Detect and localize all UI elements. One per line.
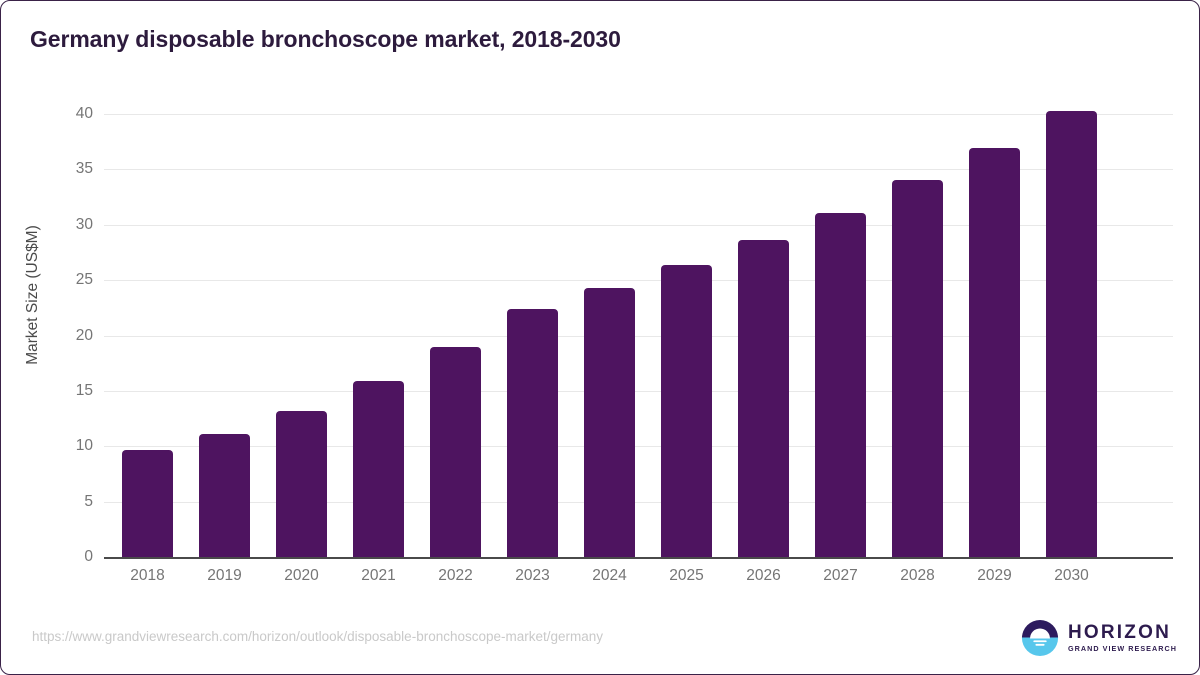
x-tick-label: 2029 bbox=[956, 567, 1033, 585]
y-tick-label: 10 bbox=[76, 437, 93, 455]
y-tick-label: 5 bbox=[84, 493, 93, 511]
bar[interactable] bbox=[892, 180, 943, 557]
y-tick-label: 15 bbox=[76, 382, 93, 400]
bar-group: 2021 bbox=[340, 1, 417, 601]
bar-group: 2030 bbox=[1033, 1, 1110, 601]
bar-group: 2018 bbox=[109, 1, 186, 601]
bar[interactable] bbox=[815, 213, 866, 557]
bar-group: 2020 bbox=[263, 1, 340, 601]
bar[interactable] bbox=[1046, 111, 1097, 557]
bar[interactable] bbox=[430, 347, 481, 557]
bar-group: 2023 bbox=[494, 1, 571, 601]
bar[interactable] bbox=[738, 240, 789, 557]
y-tick-label: 40 bbox=[76, 105, 93, 123]
y-tick-label: 25 bbox=[76, 271, 93, 289]
bar-series: 2018201920202021202220232024202520262027… bbox=[109, 1, 1173, 601]
source-url[interactable]: https://www.grandviewresearch.com/horizo… bbox=[32, 629, 603, 644]
y-axis-tick-labels: 0510152025303540 bbox=[53, 1, 93, 601]
x-tick-label: 2025 bbox=[648, 567, 725, 585]
bar-group: 2024 bbox=[571, 1, 648, 601]
bar[interactable] bbox=[122, 450, 173, 557]
bar[interactable] bbox=[276, 411, 327, 557]
x-tick-label: 2030 bbox=[1033, 567, 1110, 585]
x-tick-label: 2028 bbox=[879, 567, 956, 585]
x-tick-label: 2021 bbox=[340, 567, 417, 585]
y-tick-label: 0 bbox=[84, 548, 93, 566]
bar-group: 2026 bbox=[725, 1, 802, 601]
bar[interactable] bbox=[507, 309, 558, 557]
bar-group: 2022 bbox=[417, 1, 494, 601]
x-tick-label: 2022 bbox=[417, 567, 494, 585]
chart-page: Germany disposable bronchoscope market, … bbox=[0, 0, 1200, 675]
y-tick-label: 30 bbox=[76, 216, 93, 234]
bar[interactable] bbox=[199, 434, 250, 557]
bar-group: 2027 bbox=[802, 1, 879, 601]
chart-plot-area: Market Size (US$M) 0510152025303540 2018… bbox=[1, 1, 1200, 601]
bar[interactable] bbox=[353, 381, 404, 557]
y-tick-label: 20 bbox=[76, 327, 93, 345]
bar-group: 2028 bbox=[879, 1, 956, 601]
bar-group: 2029 bbox=[956, 1, 1033, 601]
x-tick-label: 2027 bbox=[802, 567, 879, 585]
horizon-logo-text: HORIZON GRAND VIEW RESEARCH bbox=[1068, 623, 1177, 652]
y-tick-label: 35 bbox=[76, 160, 93, 178]
x-tick-label: 2023 bbox=[494, 567, 571, 585]
y-axis-title: Market Size (US$M) bbox=[24, 115, 42, 475]
x-tick-label: 2026 bbox=[725, 567, 802, 585]
x-tick-label: 2019 bbox=[186, 567, 263, 585]
bar[interactable] bbox=[584, 288, 635, 557]
logo-tagline: GRAND VIEW RESEARCH bbox=[1068, 645, 1177, 652]
bar[interactable] bbox=[969, 148, 1020, 557]
x-tick-label: 2018 bbox=[109, 567, 186, 585]
x-tick-label: 2020 bbox=[263, 567, 340, 585]
horizon-logo-icon bbox=[1021, 619, 1059, 657]
horizon-logo: HORIZON GRAND VIEW RESEARCH bbox=[1021, 619, 1177, 657]
bar-group: 2019 bbox=[186, 1, 263, 601]
bar[interactable] bbox=[661, 265, 712, 557]
logo-name: HORIZON bbox=[1068, 623, 1177, 642]
bar-group: 2025 bbox=[648, 1, 725, 601]
x-tick-label: 2024 bbox=[571, 567, 648, 585]
